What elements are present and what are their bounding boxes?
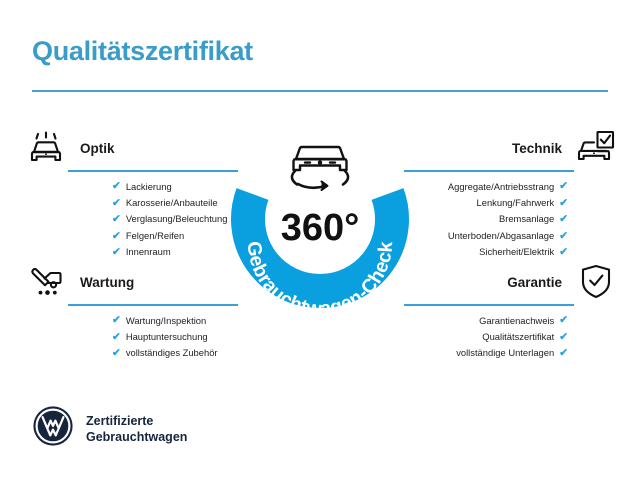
list-item-label: Bremsanlage [499, 211, 554, 227]
check-icon: ✔ [112, 247, 121, 258]
list-item-label: Unterboden/Abgasanlage [448, 228, 554, 244]
gebrauchtwagen-check-badge: Gebrauchtwagen-Check 360° [222, 122, 418, 318]
list-item-label: vollständige Unterlagen [456, 345, 554, 361]
check-icon: ✔ [559, 247, 568, 258]
list-item-label: Sicherheit/Elektrik [479, 244, 554, 260]
wrench-car-icon [24, 262, 68, 302]
car-checkbox-icon [574, 128, 618, 168]
list-item-label: Lackierung [126, 179, 172, 195]
check-icon: ✔ [559, 181, 568, 192]
check-icon: ✔ [112, 198, 121, 209]
section-header-technik: Technik [388, 128, 618, 168]
list-item-label: Karosserie/Anbauteile [126, 195, 218, 211]
section-optik: Optik ✔Lackierung ✔Karosserie/Anbauteile… [24, 128, 254, 261]
section-header-garantie: Garantie [388, 262, 618, 302]
vw-logo-icon [32, 405, 74, 452]
section-divider-optik [68, 170, 238, 172]
list-item-label: Garantienachweis [479, 313, 554, 329]
list-item-label: Aggregate/Antriebsstrang [448, 179, 554, 195]
check-icon: ✔ [559, 348, 568, 359]
section-title-garantie: Garantie [507, 275, 574, 290]
list-item: ✔vollständiges Zubehör [112, 345, 254, 361]
list-item-label: Lenkung/Fahrwerk [477, 195, 555, 211]
car-front-rotate-icon [292, 147, 348, 190]
section-wartung: Wartung ✔Wartung/Inspektion ✔Hauptunters… [24, 262, 254, 362]
check-icon: ✔ [559, 231, 568, 242]
check-icon: ✔ [112, 332, 121, 343]
section-divider-technik [404, 170, 574, 172]
list-item-label: Hauptuntersuchung [126, 329, 208, 345]
vw-certified-footer: Zertifizierte Gebrauchtwagen [32, 405, 187, 452]
list-item: Qualitätszertifikat✔ [388, 329, 568, 345]
check-icon: ✔ [112, 348, 121, 359]
checklist-wartung: ✔Wartung/Inspektion ✔Hauptuntersuchung ✔… [112, 313, 254, 362]
shield-check-icon [574, 262, 618, 302]
section-header-optik: Optik [24, 128, 254, 168]
check-icon: ✔ [112, 231, 121, 242]
list-item-label: Wartung/Inspektion [126, 313, 206, 329]
list-item-label: vollständiges Zubehör [126, 345, 218, 361]
section-header-wartung: Wartung [24, 262, 254, 302]
check-icon: ✔ [112, 315, 121, 326]
checklist-garantie: Garantienachweis✔ Qualitätszertifikat✔ v… [388, 313, 568, 362]
section-divider-wartung [68, 304, 238, 306]
title-divider [32, 90, 608, 92]
check-icon: ✔ [112, 214, 121, 225]
list-item-label: Qualitätszertifikat [482, 329, 554, 345]
list-item-label: Felgen/Reifen [126, 228, 184, 244]
section-title-optik: Optik [68, 141, 115, 156]
check-icon: ✔ [559, 214, 568, 225]
list-item-label: Verglasung/Beleuchtung [126, 211, 228, 227]
section-divider-garantie [404, 304, 574, 306]
list-item: vollständige Unterlagen✔ [388, 345, 568, 361]
page-title: Qualitätszertifikat [32, 36, 253, 67]
section-title-technik: Technik [512, 141, 574, 156]
list-item-label: Innenraum [126, 244, 171, 260]
check-icon: ✔ [559, 332, 568, 343]
list-item: ✔Hauptuntersuchung [112, 329, 254, 345]
car-shine-icon [24, 128, 68, 168]
check-icon: ✔ [112, 181, 121, 192]
section-title-wartung: Wartung [68, 275, 134, 290]
check-icon: ✔ [559, 198, 568, 209]
check-icon: ✔ [559, 315, 568, 326]
badge-degrees: 360° [281, 207, 360, 249]
section-garantie: Garantie Garantienachweis✔ Qualitätszert… [388, 262, 618, 362]
vw-certified-label: Zertifizierte Gebrauchtwagen [86, 413, 187, 445]
section-technik: Technik Aggregate/Antriebsstrang✔ Lenkun… [388, 128, 618, 261]
